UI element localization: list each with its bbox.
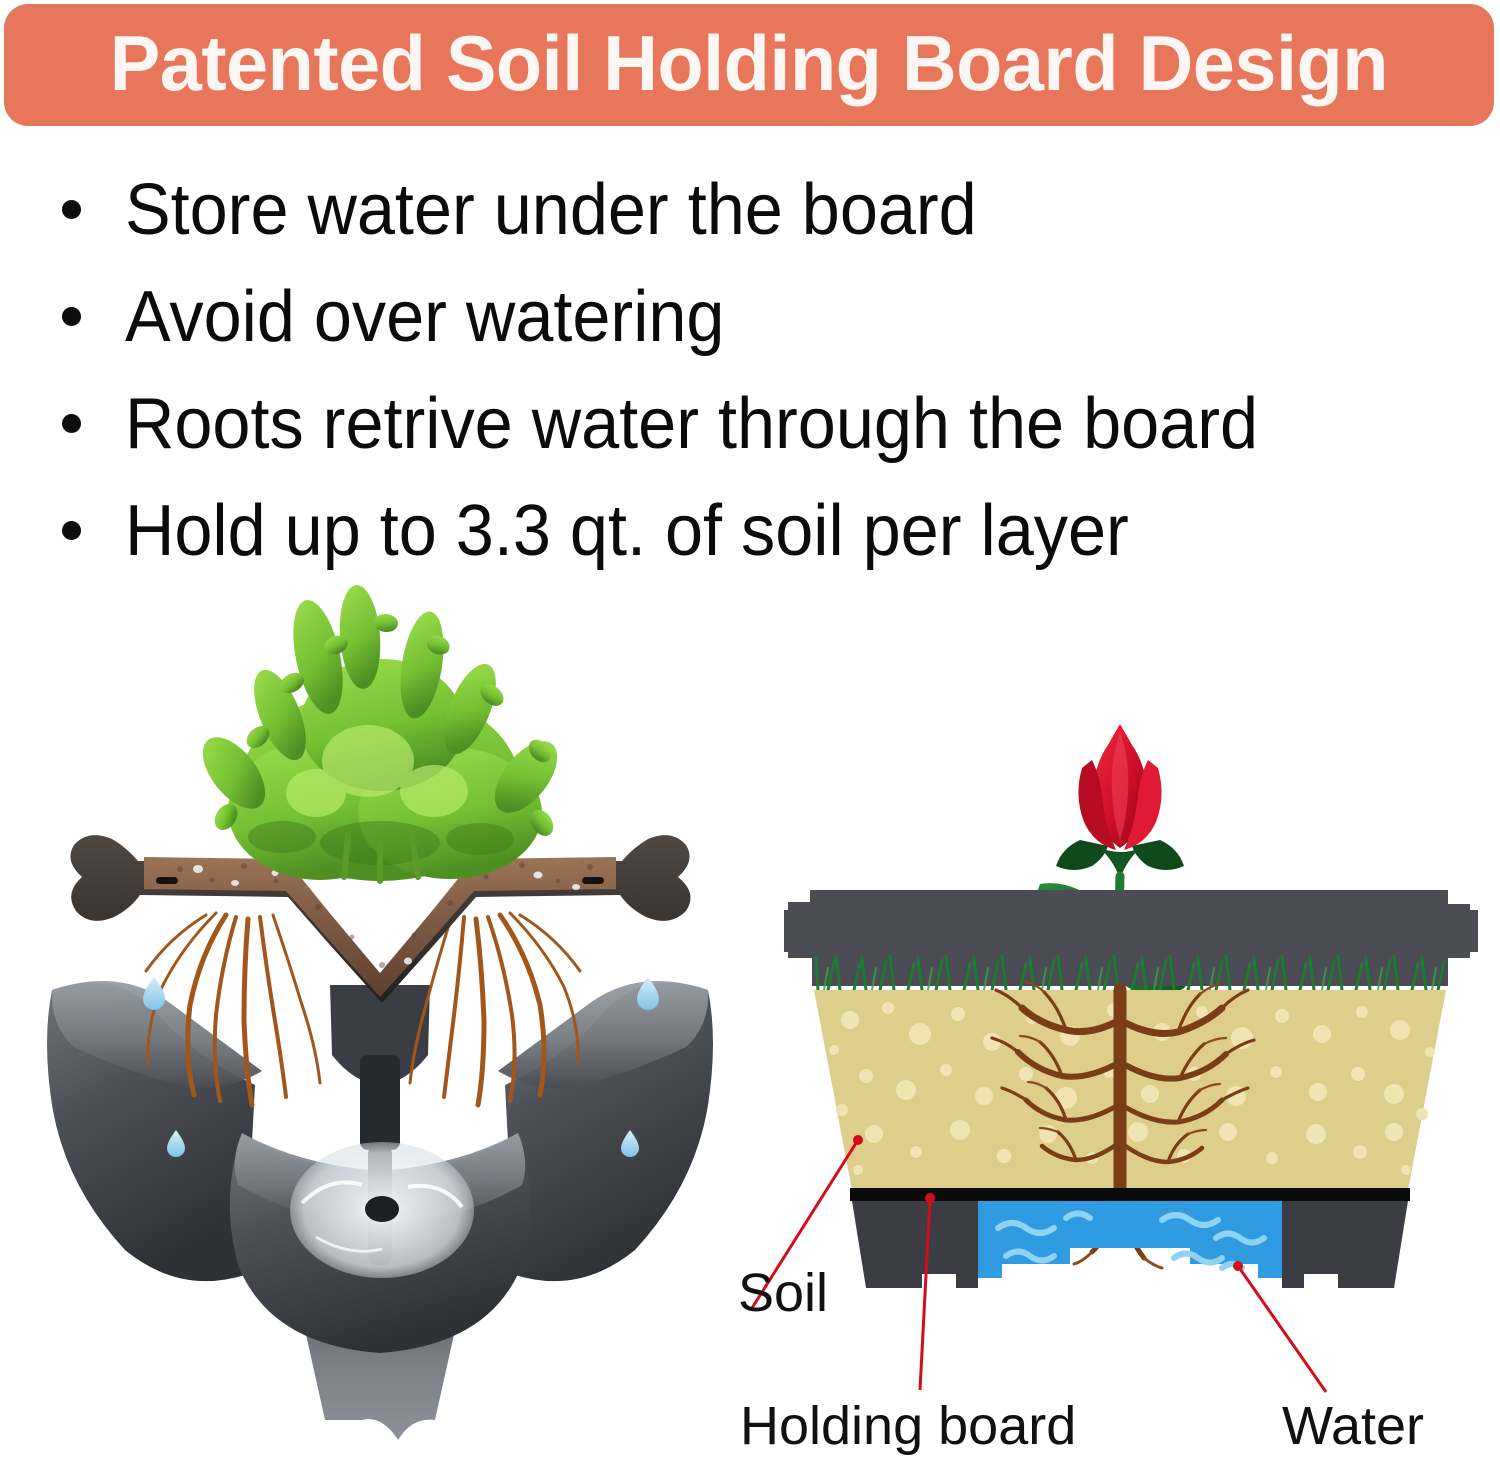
- callout-dot-soil: [853, 1135, 863, 1145]
- bullet-text: Avoid over watering: [125, 267, 724, 367]
- callout-dot-holding-board: [925, 1193, 935, 1203]
- callout-label-soil: Soil: [738, 1262, 828, 1324]
- product-photo-planter: [30, 585, 730, 1455]
- list-item: Avoid over watering: [50, 267, 1470, 374]
- list-item: Store water under the board: [50, 160, 1470, 267]
- feature-bullet-list: Store water under the board Avoid over w…: [50, 160, 1470, 588]
- callout-overlay: [730, 690, 1470, 1470]
- cross-section-diagram: [770, 690, 1490, 1330]
- planter-illustration: [30, 585, 730, 1455]
- callout-label-holding-board: Holding board: [740, 1395, 1076, 1457]
- bullet-text: Store water under the board: [125, 160, 977, 260]
- bullet-dot-icon: [62, 521, 81, 540]
- bullet-text: Hold up to 3.3 qt. of soil per layer: [125, 481, 1129, 581]
- callout-line-water: [1238, 1266, 1326, 1392]
- bullet-text: Roots retrive water through the board: [125, 374, 1258, 474]
- bullet-dot-icon: [62, 414, 81, 433]
- bullet-dot-icon: [62, 200, 81, 219]
- header-banner: Patented Soil Holding Board Design: [4, 4, 1494, 126]
- callout-dot-water: [1233, 1261, 1243, 1271]
- callout-label-water: Water: [1282, 1395, 1424, 1457]
- page-title: Patented Soil Holding Board Design: [110, 24, 1388, 106]
- list-item: Hold up to 3.3 qt. of soil per layer: [50, 481, 1470, 588]
- callout-line-holding-board: [920, 1198, 930, 1390]
- bullet-dot-icon: [62, 307, 81, 326]
- list-item: Roots retrive water through the board: [50, 374, 1470, 481]
